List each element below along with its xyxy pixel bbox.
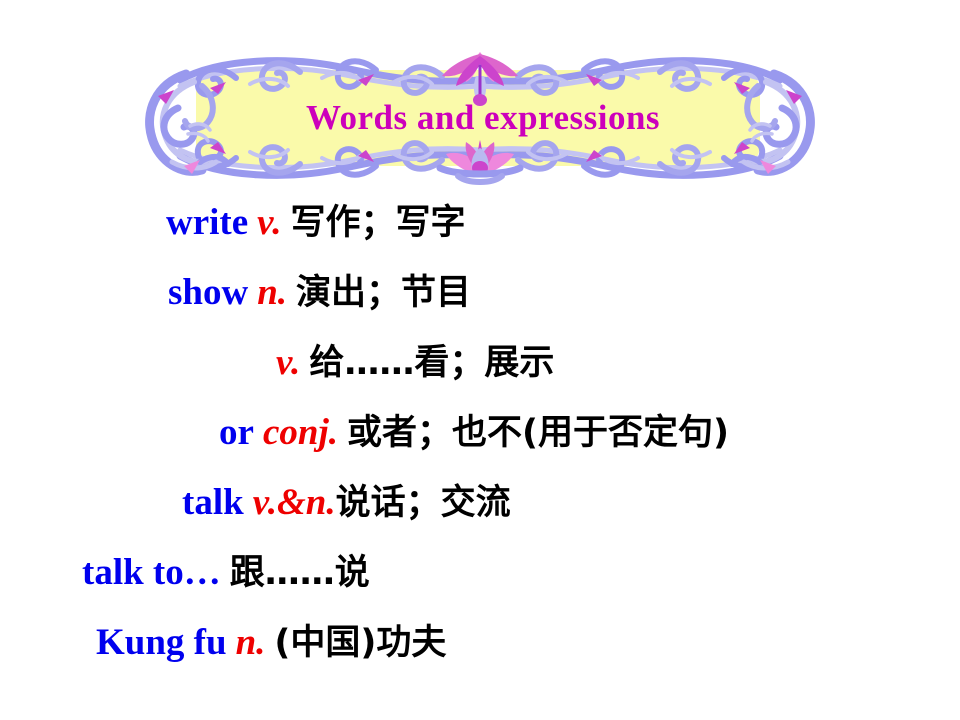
vocabulary-row: Kung fun.(中国)功夫 [0, 608, 960, 678]
chinese-gloss: 或者；也不(用于否定句) [347, 413, 729, 453]
part-of-speech: v. [257, 202, 281, 243]
vocabulary-row: v.给……看；展示 [0, 328, 960, 398]
part-of-speech: conj. [263, 412, 338, 453]
english-word: talk to… [82, 552, 221, 593]
chinese-gloss: 说话；交流 [336, 483, 511, 523]
chinese-gloss: (中国)功夫 [274, 623, 446, 663]
part-of-speech: n. [236, 622, 266, 663]
part-of-speech: v.&n. [253, 482, 336, 523]
title-banner: Words and expressions [140, 48, 820, 188]
vocabulary-row: talk to…跟……说 [0, 538, 960, 608]
vocabulary-list: writev.写作；写字 shown.演出；节目 v.给……看；展示 orcon… [0, 188, 960, 678]
chinese-gloss: 写作；写字 [290, 203, 465, 243]
english-word: talk [182, 482, 244, 523]
vocabulary-row: writev.写作；写字 [0, 188, 960, 258]
chinese-gloss: 跟……说 [230, 553, 370, 593]
vocabulary-row: shown.演出；节目 [0, 258, 960, 328]
english-word: show [168, 272, 248, 313]
vocabulary-row: talkv.&n.说话；交流 [0, 468, 960, 538]
english-word: or [219, 412, 254, 453]
english-word: write [166, 202, 248, 243]
english-word: Kung fu [96, 622, 227, 663]
chinese-gloss: 演出；节目 [296, 273, 471, 313]
part-of-speech: v. [276, 342, 300, 383]
chinese-gloss: 给……看；展示 [309, 343, 554, 383]
vocabulary-row: orconj.或者；也不(用于否定句) [0, 398, 960, 468]
page-title: Words and expressions [140, 48, 820, 188]
part-of-speech: n. [257, 272, 287, 313]
